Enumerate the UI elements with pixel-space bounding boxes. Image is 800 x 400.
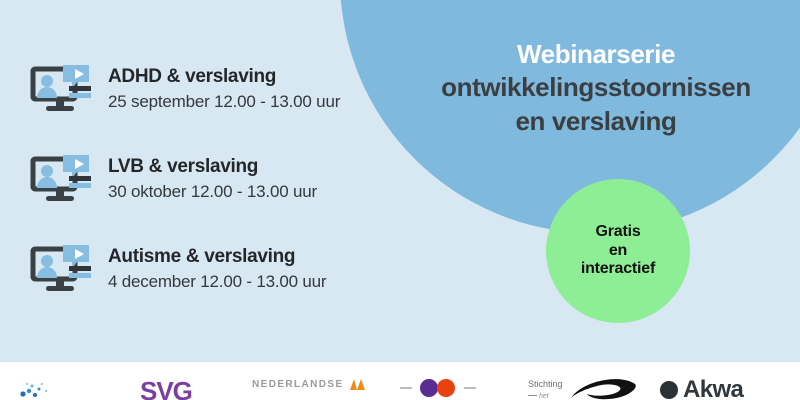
badge-line-3: interactief xyxy=(581,260,655,279)
svg-logo-label: SVG xyxy=(140,378,192,400)
webinar-time: 30 oktober 12.00 - 13.00 uur xyxy=(108,182,394,202)
partner-logo-bar: SVG NEDERLANDSE Stichting het xyxy=(0,362,800,400)
badge-line-2: en xyxy=(581,242,655,261)
headline-line-1: Webinarserie xyxy=(396,38,796,71)
webinar-text: LVB & verslaving 30 oktober 12.00 - 13.0… xyxy=(102,156,394,202)
akwa-logo-mark xyxy=(660,381,678,399)
stichting-logo-label: Stichting xyxy=(528,379,563,389)
list-item: ADHD & verslaving 25 september 12.00 - 1… xyxy=(24,58,394,120)
webinar-title: Autisme & verslaving xyxy=(108,246,394,269)
webinar-poster: Webinarserie ontwikkelingsstoornissen en… xyxy=(0,0,800,400)
webinar-monitor-icon xyxy=(24,60,102,118)
akwa-logo: Akwa xyxy=(660,378,743,400)
webinar-text: ADHD & verslaving 25 september 12.00 - 1… xyxy=(102,66,394,112)
stichting-logo-sub: het xyxy=(539,393,549,400)
webinar-title: LVB & verslaving xyxy=(108,156,394,179)
headline-line-3: en verslaving xyxy=(396,105,796,138)
badge-text: Gratis en interactief xyxy=(581,223,655,280)
akwa-logo-label: Akwa xyxy=(683,378,743,400)
webinar-title: ADHD & verslaving xyxy=(108,66,394,89)
trimbos-logo xyxy=(400,378,476,398)
webinar-list: ADHD & verslaving 25 september 12.00 - 1… xyxy=(24,58,394,328)
headline-line-2: ontwikkelingsstoornissen xyxy=(396,71,796,104)
divider xyxy=(400,387,412,389)
status-badge: Gratis en interactief xyxy=(546,179,690,323)
webinar-time: 4 december 12.00 - 13.00 uur xyxy=(108,272,394,292)
webinar-monitor-icon xyxy=(24,240,102,298)
list-item: Autisme & verslaving 4 december 12.00 - … xyxy=(24,238,394,300)
badge-line-1: Gratis xyxy=(581,223,655,242)
webinar-text: Autisme & verslaving 4 december 12.00 - … xyxy=(102,246,394,292)
nvvp-logo: NEDERLANDSE xyxy=(252,378,366,392)
nvvp-logo-label: NEDERLANDSE xyxy=(252,380,344,390)
divider xyxy=(464,387,476,389)
divider xyxy=(528,395,537,396)
list-item: LVB & verslaving 30 oktober 12.00 - 13.0… xyxy=(24,148,394,210)
webinar-monitor-icon xyxy=(24,150,102,208)
svg-logo: SVG xyxy=(140,378,192,400)
zonmw-logo xyxy=(18,378,52,400)
stichting-logo: Stichting het xyxy=(528,378,639,400)
webinar-time: 25 september 12.00 - 13.00 uur xyxy=(108,92,394,112)
page-title: Webinarserie ontwikkelingsstoornissen en… xyxy=(396,38,796,138)
